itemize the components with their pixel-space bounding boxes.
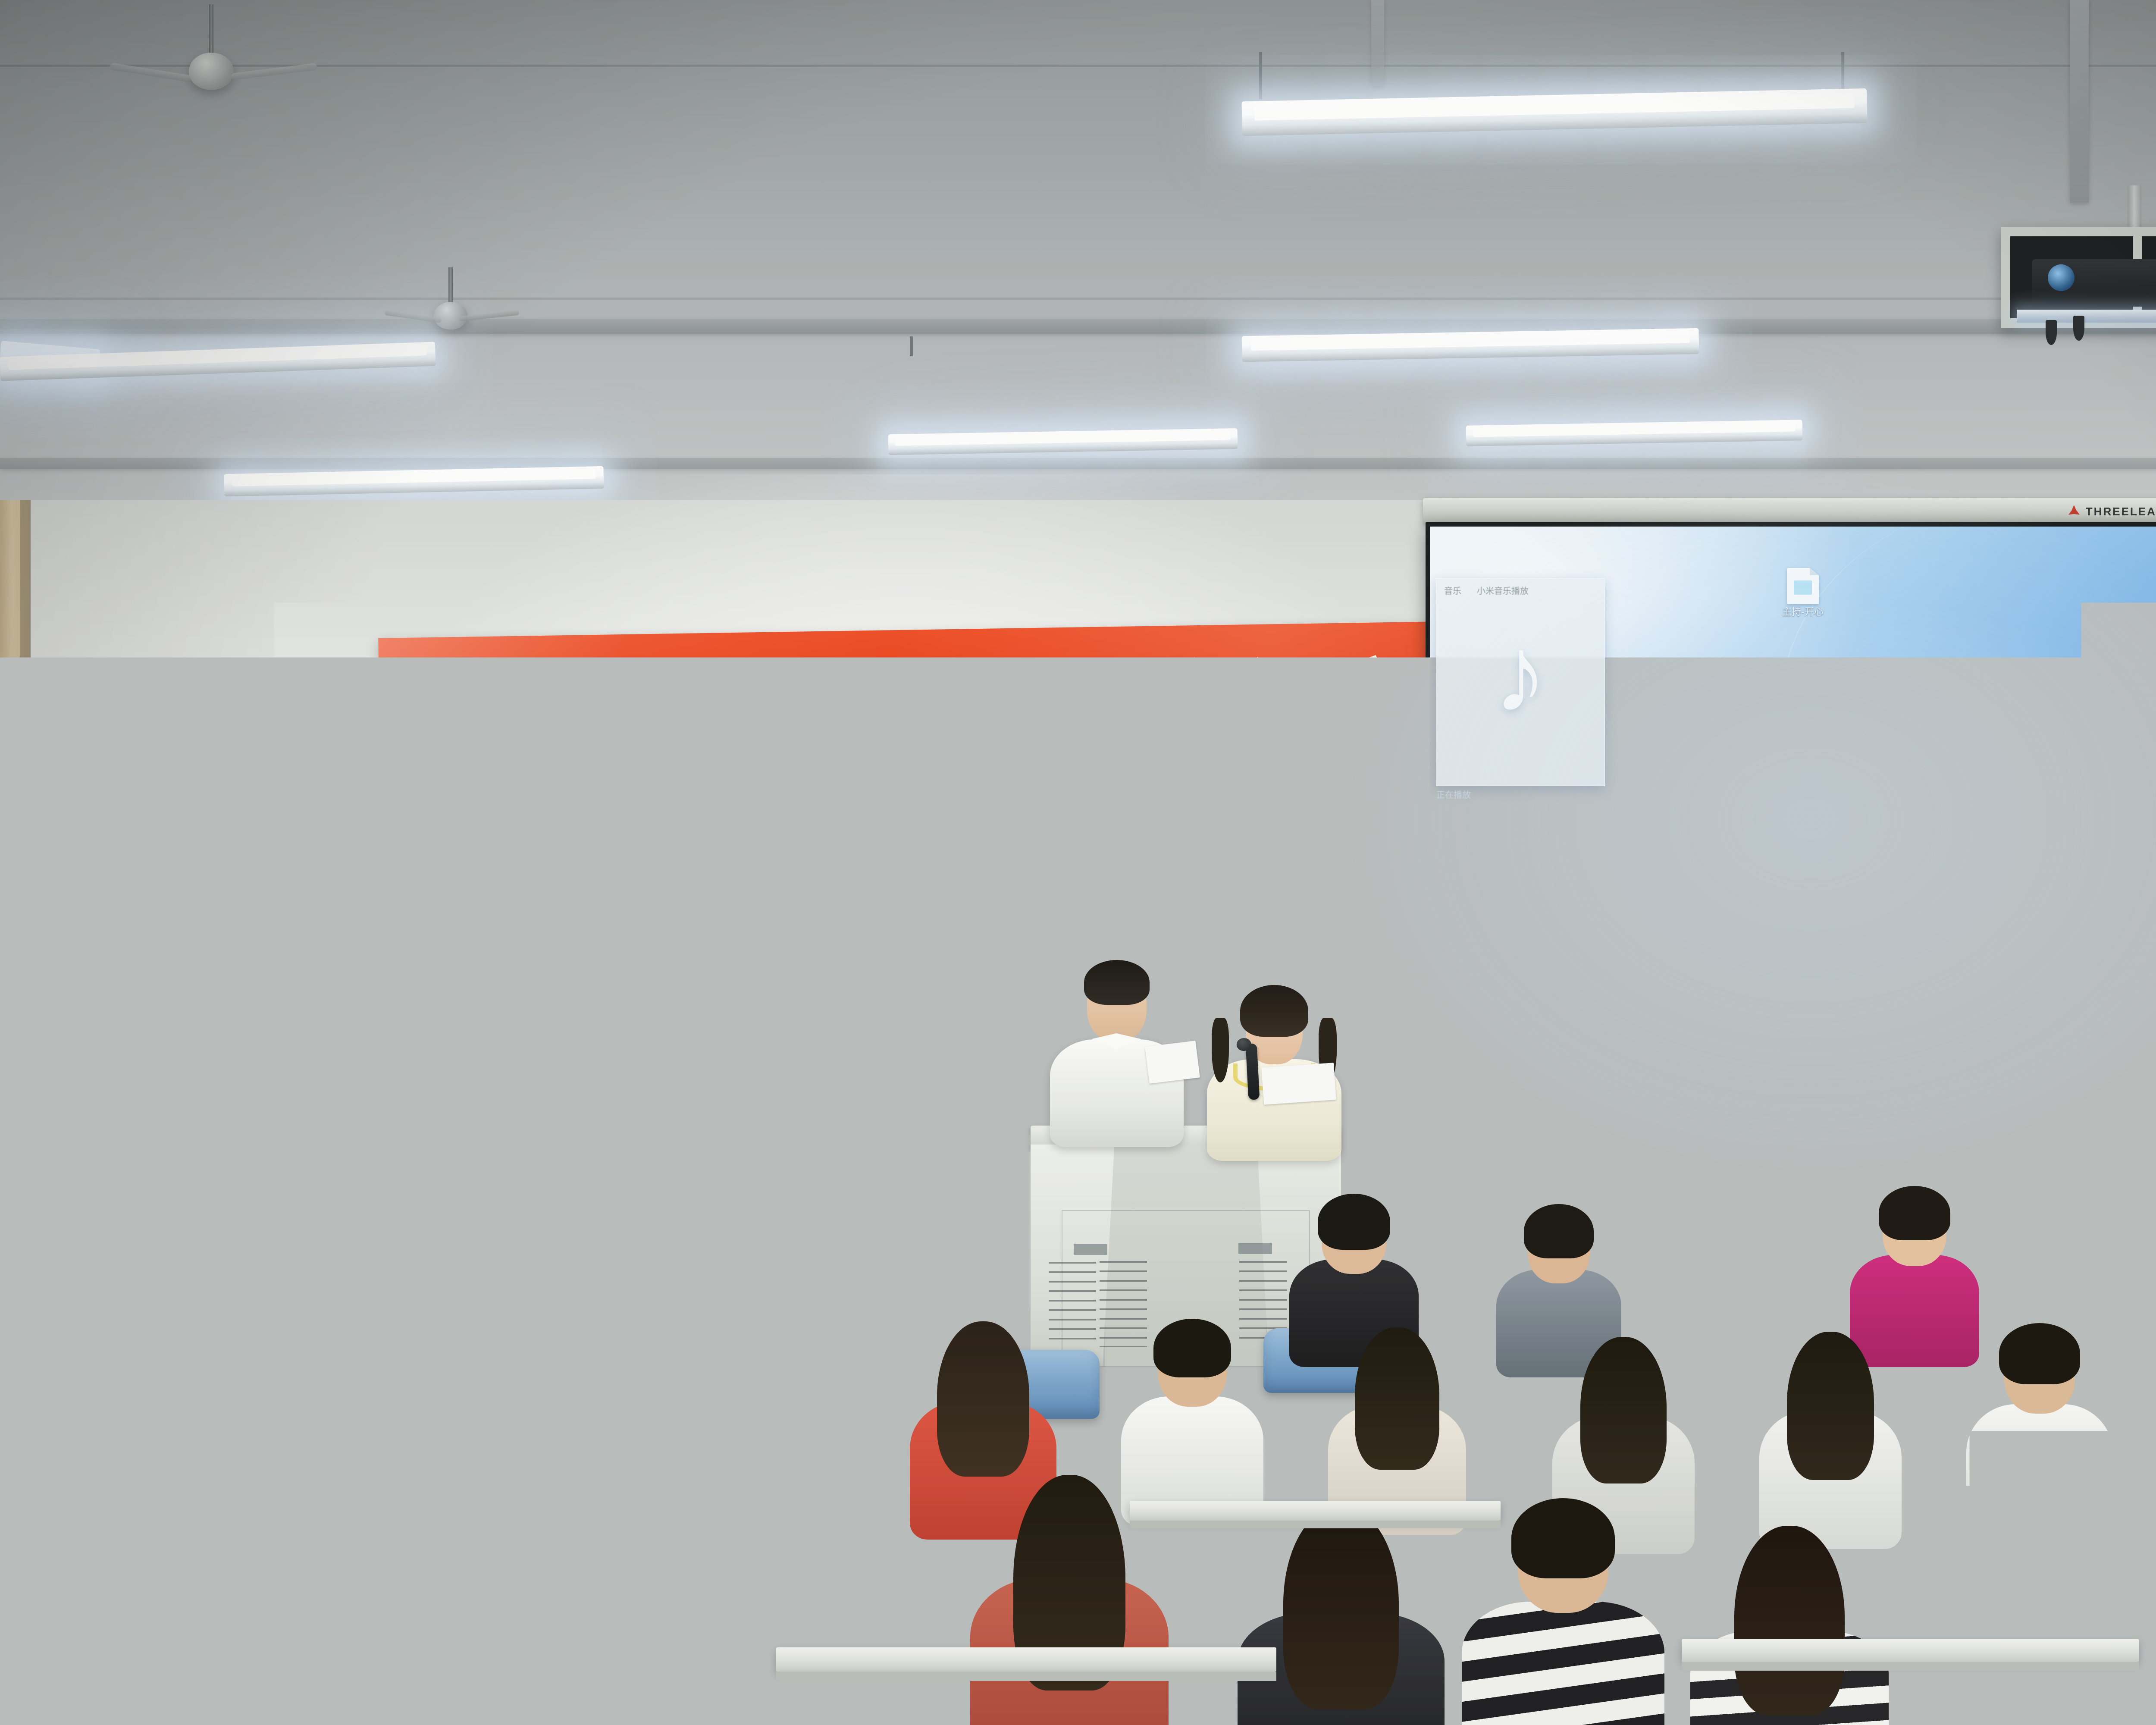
windows-taskbar[interactable]: 15:06 2016/6/15	[1430, 1065, 2156, 1091]
desk-foreground	[1682, 1639, 2156, 1725]
ceiling-beam-vertical	[1371, 0, 1384, 86]
music-player-title: 音乐	[1444, 584, 1461, 596]
desktop-folder-starry-diary[interactable]: 星空日记	[1771, 746, 1835, 801]
led-indicator-red	[2056, 1252, 2065, 1261]
music-player-footer: 正在播放	[1436, 788, 1689, 800]
media-icon[interactable]	[1484, 1069, 1501, 1087]
tray-icon[interactable]	[2104, 1074, 2112, 1082]
three-leaf-logo-icon	[2067, 505, 2081, 518]
document-icon[interactable]	[1532, 1069, 1550, 1087]
music-note-icon: ♪	[1494, 631, 1548, 717]
lecture-hall-photo: 物品存放处 2016年河南农业大学经济与管理学院三 THREELEAVES	[0, 0, 2156, 1725]
power-socket	[927, 1246, 950, 1265]
desktop-icon-powerpoint[interactable]: P Microsoft PowerPoint	[1433, 998, 1498, 1063]
audience-person	[612, 1436, 802, 1725]
explorer-icon[interactable]	[1508, 1069, 1526, 1087]
browser-icon[interactable]	[1460, 1069, 1477, 1087]
ceiling-fan-mount	[134, 4, 289, 103]
desktop-file-music[interactable]: 音乐	[1598, 669, 1663, 719]
clock-date: 2016/6/15	[2145, 1078, 2156, 1087]
desktop-file-mp3[interactable]: ♪ MP3 纯音乐 - 升腾演配乐	[1831, 746, 1896, 809]
start-button[interactable]	[1436, 1069, 1453, 1087]
folder-icon	[1615, 756, 1647, 793]
ceiling-projector	[2001, 185, 2156, 332]
presenter-script	[1261, 1063, 1336, 1105]
presenter-script	[1145, 1041, 1200, 1084]
mp3-file-icon: ♪ MP3	[1847, 746, 1879, 783]
desktop-icon-360-browser[interactable]: 360安全浏览器7	[1486, 914, 1551, 979]
browser-360-icon	[1502, 917, 1534, 953]
arrow-cursor	[1722, 1051, 1731, 1060]
presenter-male	[1044, 940, 1190, 1143]
music-player-subtitle: 小米音乐播放	[1477, 584, 1529, 596]
presenter-female	[1203, 962, 1345, 1147]
desktop-file-host-stage[interactable]: 主持台	[1717, 669, 1781, 719]
clock-time: 15:06	[2145, 1069, 2156, 1078]
storage-area-sign: 物品存放处	[694, 960, 774, 1010]
desk-mid	[1617, 1466, 2005, 1535]
lenovo-wallpaper-logo: lenovo	[1927, 884, 2116, 944]
amplifier-panel	[2026, 1239, 2122, 1274]
water-bottle	[82, 1309, 110, 1374]
audience-person	[0, 1389, 172, 1725]
tray-icon[interactable]	[2118, 1074, 2125, 1082]
security-camera-icon	[254, 714, 299, 765]
desktop-file-script[interactable]: 剧本	[1658, 669, 1723, 719]
mp3-ext-label: MP3	[1850, 770, 1876, 778]
recycle-bin-icon	[1452, 823, 1484, 859]
antivirus-icon[interactable]	[1557, 1069, 1574, 1087]
led-indicator-green	[2084, 1252, 2092, 1261]
folder-icon	[1787, 750, 1819, 787]
audience-person	[2134, 1190, 2156, 1376]
water-bottle	[53, 1294, 78, 1350]
desktop-icon-360-safeguard[interactable]: 360安全卫士	[1487, 816, 1551, 869]
wall-plate	[293, 919, 321, 940]
desktop-file-host-script[interactable]: 主持-开心	[1771, 568, 1835, 618]
screen-bottom-bar	[1423, 1096, 2156, 1110]
power-socket	[1815, 1207, 1834, 1224]
screen-bezel: lenovo 回收站 360安全卫士	[1426, 522, 2156, 1096]
banner-text: 2016年河南农业大学经济与管理学院三	[378, 621, 1471, 789]
document-icon	[1787, 568, 1819, 604]
ceiling-fan-mount	[397, 267, 505, 341]
excel-icon: X	[1451, 918, 1482, 954]
powerpoint-icon: P	[1450, 1001, 1482, 1038]
ceiling-beam	[0, 458, 2156, 469]
storage-sign-label: 物品存放处	[695, 953, 773, 1009]
desk-foreground	[776, 1647, 1294, 1725]
document-icon	[1675, 669, 1707, 705]
music-player-popup[interactable]: 音乐 小米音乐播放 ♪ 正在播放	[1436, 578, 1605, 786]
taskbar-clock[interactable]: 15:06 2016/6/15	[2145, 1069, 2156, 1088]
screen-brand-name: THREELEAVES	[2086, 505, 2156, 518]
audience-person	[448, 1423, 634, 1725]
led-indicator-amber	[2070, 1252, 2078, 1261]
document-icon	[1614, 669, 1646, 705]
tiles-icon	[1503, 819, 1535, 856]
screen-brand: THREELEAVES	[2067, 505, 2156, 518]
ceiling-beam	[0, 319, 2156, 334]
projection-screen: THREELEAVES lenovo 回收站	[1423, 498, 2156, 1110]
screen-housing: THREELEAVES	[1423, 498, 2156, 525]
event-banner: 2016年河南农业大学经济与管理学院三	[378, 621, 1471, 798]
volume-icon[interactable]	[2131, 1074, 2139, 1082]
windows-desktop[interactable]: lenovo 回收站 360安全卫士	[1430, 527, 2156, 1091]
ceiling-beam-vertical	[2070, 0, 2089, 203]
audience-person	[276, 1341, 448, 1686]
system-tray[interactable]: 15:06 2016/6/15	[2104, 1069, 2156, 1088]
document-icon	[1733, 669, 1765, 705]
desk-mid	[1130, 1501, 1518, 1570]
